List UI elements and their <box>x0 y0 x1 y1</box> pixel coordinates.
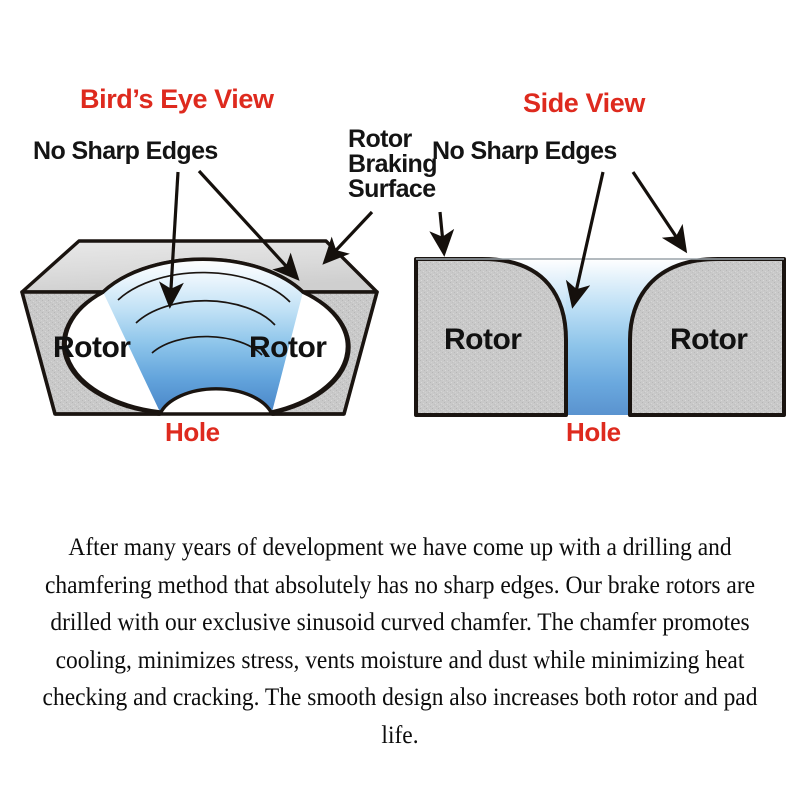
rotor-label-birds-eye-right: Rotor <box>249 331 326 365</box>
description-paragraph: After many years of development we have … <box>39 528 760 753</box>
arrow-no-sharp-edges-right-b <box>633 172 685 250</box>
birds-eye-view-diagram <box>22 171 377 414</box>
callout-hole-side-view: Hole <box>566 419 621 446</box>
callout-rotor-braking-surface: Rotor Braking Surface <box>348 127 478 202</box>
callout-hole-birds-eye: Hole <box>165 419 220 446</box>
arrow-braking-surface-to-side-view <box>440 212 444 253</box>
rotor-label-birds-eye-left: Rotor <box>53 331 130 365</box>
chamfer-channel-core <box>566 259 630 415</box>
birds-eye-view-title: Bird’s Eye View <box>80 86 274 114</box>
side-view-diagram <box>416 172 784 415</box>
rotor-chamfer-figure: Bird’s Eye View Side View No Sharp Edges… <box>0 0 800 800</box>
rotor-label-side-view-left: Rotor <box>444 323 521 357</box>
rotor-label-side-view-right: Rotor <box>670 323 747 357</box>
callout-no-sharp-edges-left: No Sharp Edges <box>33 139 218 164</box>
side-view-title: Side View <box>523 90 645 118</box>
arrow-braking-surface-to-block <box>325 212 372 262</box>
